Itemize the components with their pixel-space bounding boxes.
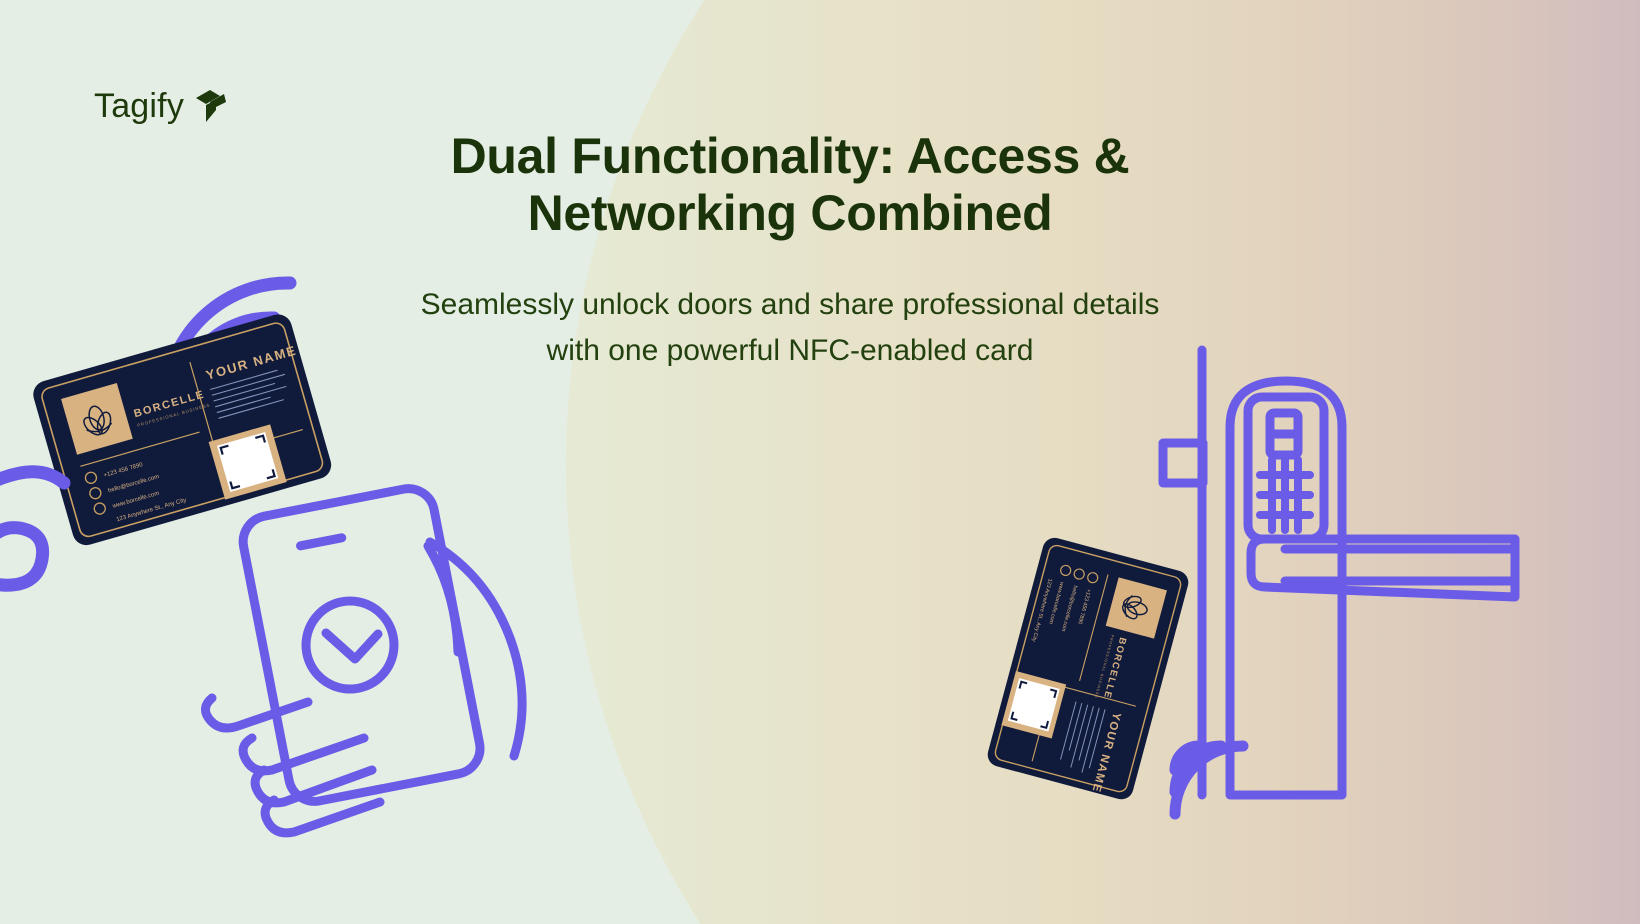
page-title: Dual Functionality: Access & Networking …	[420, 128, 1160, 241]
tagify-leaf-mark-icon	[194, 88, 228, 124]
page-subtitle: Seamlessly unlock doors and share profes…	[420, 282, 1160, 373]
hero-banner: BORCELLE PROFESSIONAL BUSINESS +123 456 …	[0, 0, 1640, 924]
brand-logo[interactable]: Tagify	[94, 88, 228, 124]
business-card-right: BORCELLE PROFESSIONAL BUSINESS +123 456 …	[985, 535, 1191, 802]
brand-name: Tagify	[94, 89, 184, 123]
phone-body	[239, 484, 485, 806]
hand-outline-left	[0, 472, 64, 585]
strike-plate	[1163, 443, 1203, 483]
nfc-wave-arcs-right-bottom	[1175, 746, 1243, 814]
phone-illustration	[222, 470, 562, 820]
clock-check-icon	[306, 601, 394, 689]
right-card-illustration: BORCELLE PROFESSIONAL BUSINESS +123 456 …	[995, 560, 1255, 850]
lock-keypad-icon	[1260, 460, 1310, 530]
